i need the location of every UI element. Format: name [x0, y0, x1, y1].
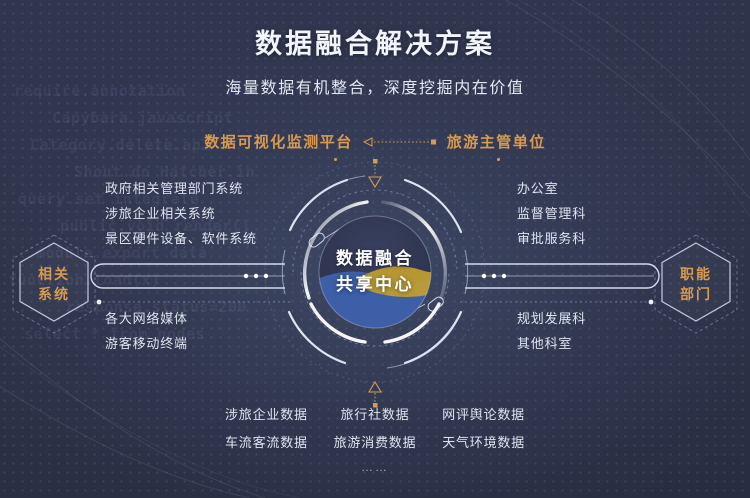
hexagon-right-line2: 部门	[680, 284, 712, 304]
hexagon-left-text: 相关 系统	[8, 232, 100, 336]
grid-cell: 旅游消费数据	[334, 432, 417, 451]
list-left-top: 政府相关管理部门系统 涉旅企业相关系统 景区硬件设备、软件系统	[105, 176, 257, 251]
list-item: 监督管理科	[517, 201, 586, 226]
list-left-bottom: 各大网络媒体 游客移动终端	[105, 306, 188, 356]
grid-cell: 涉旅企业数据	[225, 404, 308, 423]
list-item: 政府相关管理部门系统	[105, 176, 257, 201]
list-item: 各大网络媒体	[105, 306, 188, 331]
hexagon-left-line1: 相关	[38, 264, 70, 284]
grid-cell: 天气环境数据	[442, 432, 525, 451]
bottom-data-grid: 涉旅企业数据 旅行社数据 网评舆论数据 车流客流数据 旅游消费数据 天气环境数据…	[225, 404, 525, 474]
hexagon-left-line2: 系统	[38, 284, 70, 304]
hexagon-right-text: 职能 部门	[650, 232, 742, 336]
list-item: 审批服务科	[517, 226, 586, 251]
hexagon-related-systems[interactable]: 相关 系统	[8, 232, 100, 336]
page-title: 数据融合解决方案	[0, 22, 750, 61]
core-hub-graphic: 数据融合 共享中心	[255, 152, 495, 392]
hexagon-functional-departments[interactable]: 职能 部门	[650, 232, 742, 336]
infographic-canvas: require.annotation Capybara.javascript C…	[0, 0, 750, 498]
label-tourism-authority: 旅游主管单位	[447, 131, 546, 152]
hexagon-right-line1: 职能	[680, 264, 712, 284]
header: 数据融合解决方案 海量数据有机整合，深度挖掘内在价值	[0, 22, 750, 98]
list-right-bottom: 规划发展科 其他科室	[517, 306, 586, 356]
dotted-arrow-left-icon	[363, 136, 437, 148]
list-right-top: 办公室 监督管理科 审批服务科	[517, 176, 586, 251]
list-item: 办公室	[517, 176, 586, 201]
page-subtitle: 海量数据有机整合，深度挖掘内在价值	[0, 74, 750, 98]
list-item: 其他科室	[517, 331, 586, 356]
watermark-line: Capybara.javascript	[0, 105, 440, 132]
label-marker-dot-right	[497, 158, 500, 161]
table-row: 涉旅企业数据 旅行社数据 网评舆论数据	[225, 404, 525, 423]
grid-cell: 网评舆论数据	[442, 404, 525, 423]
grid-cell: 旅行社数据	[340, 404, 409, 423]
label-visualization-platform: 数据可视化监测平台	[204, 131, 353, 152]
list-item: 景区硬件设备、软件系统	[105, 226, 257, 251]
list-item: 游客移动终端	[105, 331, 188, 356]
list-item: 规划发展科	[517, 306, 586, 331]
table-row: 车流客流数据 旅游消费数据 天气环境数据	[225, 432, 525, 451]
grid-ellipsis: ……	[225, 460, 525, 474]
grid-cell: 车流客流数据	[225, 432, 308, 451]
top-label-row: 数据可视化监测平台 旅游主管单位	[0, 131, 750, 152]
list-item: 涉旅企业相关系统	[105, 201, 257, 226]
